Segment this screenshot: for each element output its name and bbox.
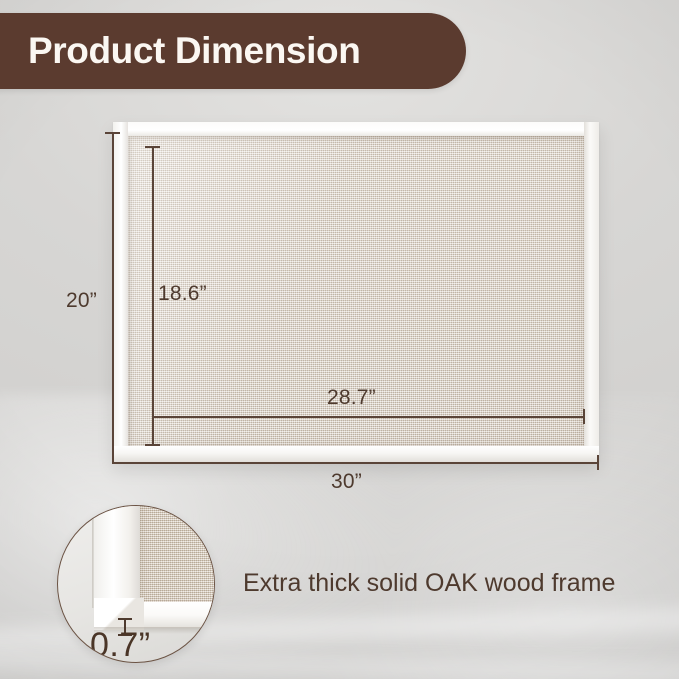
width-dimension-line — [112, 462, 599, 464]
frame-right — [584, 122, 599, 462]
inner-width-label: 28.7” — [327, 386, 376, 410]
height-dimension-cap-top — [105, 132, 120, 134]
page-title: Product Dimension — [28, 30, 360, 72]
inner-height-label: 18.6” — [158, 282, 207, 306]
height-dimension-line — [112, 133, 114, 463]
overall-height-label: 20” — [66, 289, 97, 313]
overall-width-label: 30” — [331, 470, 362, 494]
frame-caption: Extra thick solid OAK wood frame — [243, 569, 615, 598]
frame-bottom — [113, 446, 599, 462]
header-banner: Product Dimension — [0, 13, 466, 89]
inner-height-dimension-line — [152, 147, 154, 446]
detail-frame-vertical — [94, 505, 140, 608]
inner-width-cap-right — [583, 409, 585, 424]
frame-top — [113, 122, 599, 136]
detail-linen-surface — [139, 505, 215, 608]
inner-height-cap-bottom — [145, 444, 160, 446]
inner-height-cap-top — [145, 146, 160, 148]
frame-thickness-label: 0.7” — [90, 626, 151, 663]
frame-left — [113, 122, 128, 462]
product-dimension-infographic: Product Dimension 20” 18.6” 28.7” 30” 0.… — [0, 0, 679, 679]
width-dimension-cap-right — [597, 455, 599, 470]
frame-detail-callout: 0.7” — [57, 505, 215, 663]
inner-width-dimension-line — [152, 416, 584, 418]
